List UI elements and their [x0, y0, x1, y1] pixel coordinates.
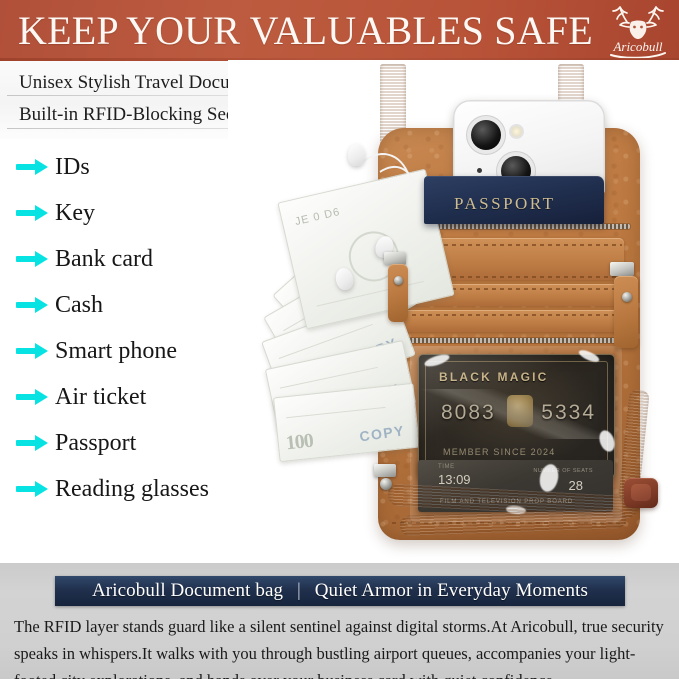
window-pocket-zipper-teeth	[392, 338, 626, 343]
product-marketing-image: KEEP YOUR VALUABLES SAFE Aricobull	[0, 0, 679, 679]
leather-zipper-tab-right	[614, 276, 638, 348]
page-title: KEEP YOUR VALUABLES SAFE	[18, 3, 593, 58]
arrow-right-icon	[16, 296, 50, 314]
aricobull-deer-logo: Aricobull	[603, 2, 673, 60]
feature-label: Cash	[55, 292, 103, 318]
header-banner: KEEP YOUR VALUABLES SAFE Aricobull	[0, 0, 679, 61]
card2-time-value: 13:09	[438, 472, 471, 487]
arrow-right-icon	[16, 250, 50, 268]
arrow-right-icon	[16, 480, 50, 498]
feature-label: Bank card	[55, 246, 153, 272]
banknote-denomination: 100	[285, 430, 314, 456]
rivet	[622, 292, 632, 302]
footer-section: Aricobull Document bag | Quiet Armor in …	[0, 563, 679, 679]
footer-banner-left: Aricobull Document bag	[92, 580, 283, 601]
arrow-right-icon	[16, 342, 50, 360]
leather-zipper-tab-left	[388, 264, 408, 322]
arrow-right-icon	[16, 204, 50, 222]
footer-banner-right: Quiet Armor in Everyday Moments	[315, 580, 588, 601]
microphone-icon	[477, 168, 482, 173]
feature-label: Smart phone	[55, 338, 177, 364]
card-number-right: 5334	[541, 401, 596, 425]
banknote-serial: JE 0 D6	[294, 206, 342, 228]
card2-time-label: TIME	[438, 464, 455, 470]
card2-number-label: NUMBER OF SEATS	[533, 468, 593, 474]
passport-label: PASSPORT	[454, 194, 556, 214]
stitch-seam	[396, 314, 622, 316]
arrow-right-icon	[16, 434, 50, 452]
camera-flash-icon	[511, 126, 522, 137]
card-member-since: MEMBER SINCE 2024	[443, 447, 555, 457]
feature-label: Reading glasses	[55, 476, 209, 502]
arrow-right-icon	[16, 388, 50, 406]
passport: PASSPORT	[424, 176, 604, 224]
feature-label: Key	[55, 200, 95, 226]
zipper-pull-bottom-left	[374, 464, 396, 477]
footer-banner: Aricobull Document bag | Quiet Armor in …	[55, 576, 625, 606]
arrow-right-icon	[16, 158, 50, 176]
rivet	[394, 276, 403, 285]
footer-banner-text: Aricobull Document bag | Quiet Armor in …	[92, 580, 588, 602]
footer-paragraph: The RFID layer stands guard like a silen…	[14, 613, 668, 679]
strap-adjuster-buckle	[624, 478, 658, 508]
zipper-pull-top-right	[610, 262, 634, 276]
product-photograph: PASSPORT 100 COPY 100 COPY 100 COPY 100 …	[228, 60, 679, 565]
footer-banner-separator: |	[297, 580, 301, 602]
feature-label: Passport	[55, 430, 136, 456]
banknote-watermark: COPY	[359, 422, 406, 444]
card2-number-value: 28	[569, 478, 583, 493]
feature-label: Air ticket	[55, 384, 146, 410]
card-number-left: 8083	[441, 401, 496, 425]
card-title: BLACK MAGIC	[439, 370, 549, 384]
brand-wordmark: Aricobull	[612, 39, 662, 54]
rivet	[380, 478, 392, 490]
feature-label: IDs	[55, 154, 90, 180]
earbud	[348, 144, 365, 166]
camera-lens-1	[471, 120, 501, 150]
